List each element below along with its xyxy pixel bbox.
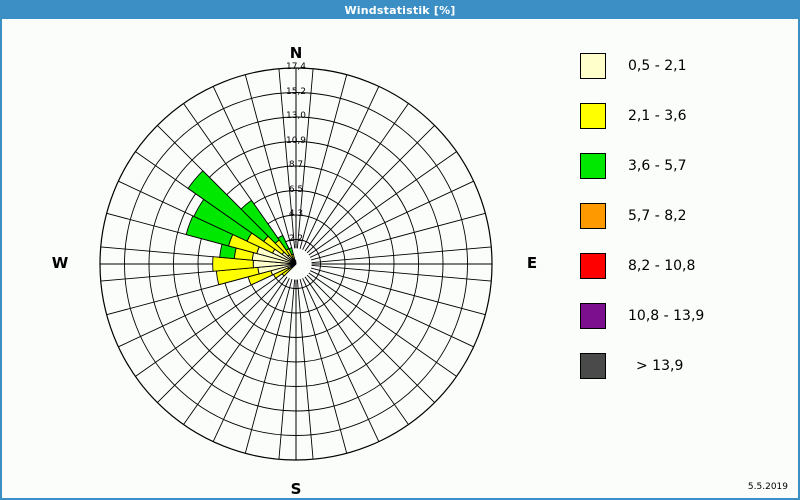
windstatistik-window: Windstatistik [%] N E S W 2,24,36,58,710… bbox=[0, 0, 800, 500]
legend-item-label: 10,8 - 13,9 bbox=[628, 308, 704, 324]
radial-tick-label: 2,2 bbox=[276, 234, 316, 244]
legend-color-swatch bbox=[580, 253, 606, 279]
legend-color-swatch bbox=[580, 353, 606, 379]
radial-tick-label: 4,3 bbox=[276, 209, 316, 219]
legend-item[interactable]: 0,5 - 2,1 bbox=[580, 41, 795, 91]
compass-label-east: E bbox=[502, 254, 562, 272]
legend-item[interactable]: 2,1 - 3,6 bbox=[580, 91, 795, 141]
legend-color-swatch bbox=[580, 153, 606, 179]
legend-color-swatch bbox=[580, 203, 606, 229]
window-title: Windstatistik [%] bbox=[344, 4, 455, 17]
legend-item[interactable]: 3,6 - 5,7 bbox=[580, 141, 795, 191]
legend-item-label: 2,1 - 3,6 bbox=[628, 108, 686, 124]
legend-item-label: 0,5 - 2,1 bbox=[628, 58, 686, 74]
speed-bin-legend: 0,5 - 2,12,1 - 3,63,6 - 5,75,7 - 8,28,2 … bbox=[580, 41, 795, 391]
radial-tick-label: 6,5 bbox=[276, 185, 316, 195]
legend-item[interactable]: 10,8 - 13,9 bbox=[580, 291, 795, 341]
radial-tick-label: 17,4 bbox=[276, 62, 316, 72]
legend-item-label: > 13,9 bbox=[636, 358, 683, 374]
date-stamp: 5.5.2019 bbox=[748, 482, 788, 492]
legend-item-label: 8,2 - 10,8 bbox=[628, 258, 695, 274]
legend-item[interactable]: 8,2 - 10,8 bbox=[580, 241, 795, 291]
legend-item-label: 5,7 - 8,2 bbox=[628, 208, 686, 224]
radial-tick-label: 13,0 bbox=[276, 111, 316, 121]
legend-color-swatch bbox=[580, 303, 606, 329]
legend-item[interactable]: > 13,9 bbox=[580, 341, 795, 391]
window-content: N E S W 2,24,36,58,710,913,015,217,4 0,5… bbox=[2, 19, 798, 498]
legend-color-swatch bbox=[580, 53, 606, 79]
wind-rose-chart: N E S W 2,24,36,58,710,913,015,217,4 bbox=[2, 19, 562, 498]
legend-item-label: 3,6 - 5,7 bbox=[628, 158, 686, 174]
compass-label-north: N bbox=[266, 44, 326, 62]
legend-item[interactable]: 5,7 - 8,2 bbox=[580, 191, 795, 241]
compass-label-south: S bbox=[266, 480, 326, 498]
legend-color-swatch bbox=[580, 103, 606, 129]
radial-tick-label: 15,2 bbox=[276, 87, 316, 97]
radial-tick-label: 8,7 bbox=[276, 160, 316, 170]
radial-tick-label: 10,9 bbox=[276, 136, 316, 146]
compass-label-west: W bbox=[30, 254, 90, 272]
window-title-bar: Windstatistik [%] bbox=[2, 2, 798, 19]
